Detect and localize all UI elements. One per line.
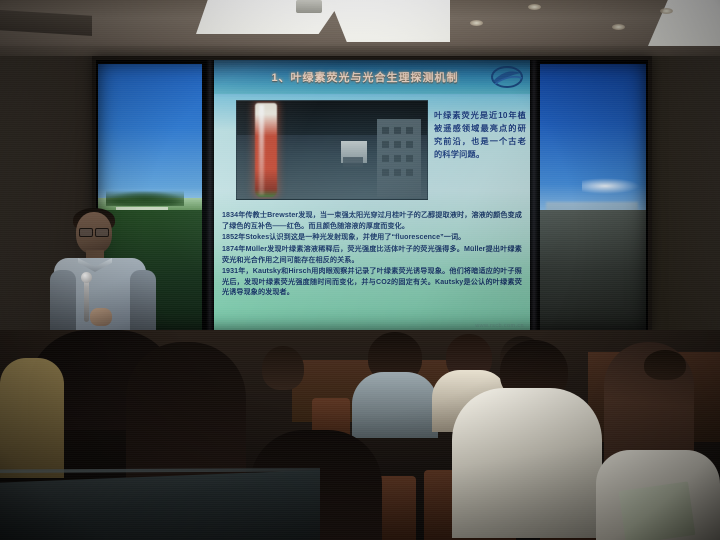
back-wall-right-section: [648, 56, 720, 356]
slide-paragraph: 1834年传教士Brewster发现，当一束强太阳光穿过月桂叶子的乙醇提取液时，…: [222, 210, 522, 231]
powerpoint-slide: 1、叶绿素荧光与光合生理探测机制: [214, 60, 530, 332]
slide-title: 1、叶绿素荧光与光合生理探测机制: [232, 66, 498, 88]
downlight-icon: [660, 8, 673, 14]
audience-body: [352, 372, 438, 438]
instrument-keypad: [377, 119, 421, 197]
downlight-icon: [612, 24, 625, 30]
notebook: [619, 481, 696, 540]
left-panel-treeline: [106, 190, 184, 206]
screen-gap-right: [530, 60, 538, 332]
right-panel-ground: [540, 210, 646, 330]
speaker: [48, 212, 158, 342]
slide-projection-center: 1、叶绿素荧光与光合生理探测机制: [214, 60, 530, 332]
swoosh-oval-logo: [489, 64, 525, 90]
slide-watermark: www.rscb.com.cn: [475, 323, 524, 329]
instrument-label-dark: [343, 157, 363, 167]
vial-highlight: [259, 105, 264, 195]
slide-body-text: 1834年传教士Brewster发现，当一束强太阳光穿过月桂叶子的乙醇提取液时，…: [222, 210, 522, 299]
slide-highlight-text: 叶绿素荧光是近10年植被遥感领域最亮点的研究前沿，也是一个古老的科学问题。: [434, 110, 526, 162]
microphone-head: [81, 272, 92, 283]
left-panel-sky: [98, 64, 202, 204]
slide-paragraph: 1874年Müller发现叶绿素溶液稀释后，荧光强度比活体叶子的荧光强得多。Mü…: [222, 244, 522, 265]
landscape-projection-right: [538, 60, 648, 332]
audience-head: [644, 350, 686, 380]
downlight-icon: [528, 4, 541, 10]
screen-gap-left: [206, 60, 214, 332]
slide-paragraph: 1931年，Kautsky和Hirsch用肉眼观察并记录了叶绿素荧光诱导现象。他…: [222, 266, 522, 298]
speaker-hand: [90, 308, 112, 326]
audience-body: [452, 388, 602, 538]
skylight-panel-center: [330, 0, 450, 42]
lecture-hall-photo: 1、叶绿素荧光与光合生理探测机制: [0, 0, 720, 540]
downlight-icon: [470, 20, 483, 26]
glasses-icon: [79, 228, 109, 235]
ceiling-vent: [296, 0, 322, 13]
slide-paragraph: 1852年Stokes认识到这是一种光发射现象，并使用了“fluorescenc…: [222, 232, 522, 243]
right-panel-cloud: [582, 178, 640, 194]
audience-head: [262, 346, 304, 390]
audience-body: [0, 358, 64, 478]
slide-embedded-photo: [236, 100, 428, 200]
projection-screen-wall: 1、叶绿素荧光与光合生理探测机制: [96, 60, 648, 332]
